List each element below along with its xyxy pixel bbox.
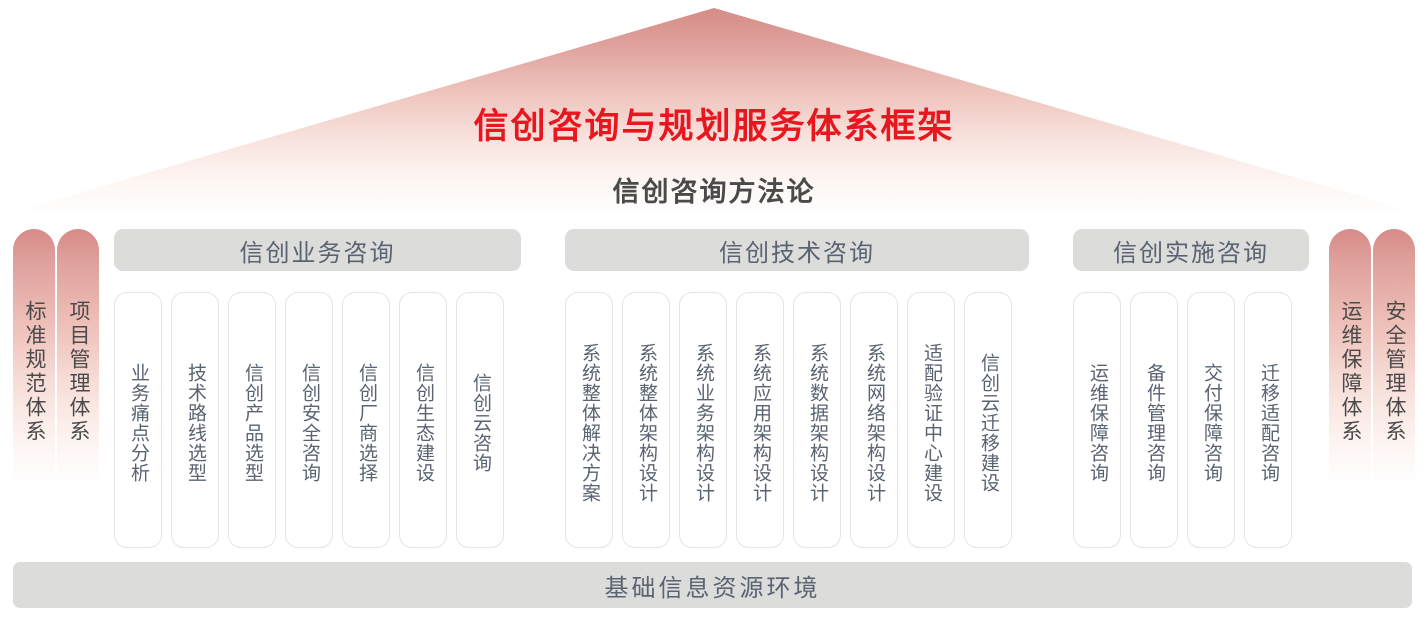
card-label: 信创生态建设 xyxy=(408,363,438,483)
section-business-consulting-header[interactable]: 信创业务咨询 xyxy=(114,229,521,271)
card-item[interactable]: 系统业务架构设计 xyxy=(679,292,727,548)
card-label: 信创云咨询 xyxy=(465,373,495,473)
card-label: 业务痛点分析 xyxy=(123,363,153,483)
card-label: 系统网络架构设计 xyxy=(859,343,889,503)
card-item[interactable]: 信创厂商选择 xyxy=(342,292,390,548)
section-technology-consulting-cards: 系统整体解决方案 系统整体架构设计 系统业务架构设计 系统应用架构设计 系统数据… xyxy=(565,292,1012,548)
pillar-security-management-label: 安全管理体系 xyxy=(1373,300,1415,530)
card-label: 系统数据架构设计 xyxy=(802,343,832,503)
card-item[interactable]: 信创生态建设 xyxy=(399,292,447,548)
card-item[interactable]: 运维保障咨询 xyxy=(1073,292,1121,548)
card-label: 系统应用架构设计 xyxy=(745,343,775,503)
section-implementation-consulting: 信创实施咨询 运维保障咨询 备件管理咨询 交付保障咨询 迁移适配咨询 xyxy=(1073,229,1309,271)
card-item[interactable]: 信创云迁移建设 xyxy=(964,292,1012,548)
section-technology-consulting: 信创技术咨询 系统整体解决方案 系统整体架构设计 系统业务架构设计 系统应用架构… xyxy=(565,229,1029,271)
card-label: 系统业务架构设计 xyxy=(688,343,718,503)
card-item[interactable]: 业务痛点分析 xyxy=(114,292,162,548)
card-label: 信创厂商选择 xyxy=(351,363,381,483)
card-item[interactable]: 备件管理咨询 xyxy=(1130,292,1178,548)
section-implementation-consulting-cards: 运维保障咨询 备件管理咨询 交付保障咨询 迁移适配咨询 xyxy=(1073,292,1292,548)
card-item[interactable]: 信创产品选型 xyxy=(228,292,276,548)
pillar-operations-support-label: 运维保障体系 xyxy=(1329,300,1371,530)
card-item[interactable]: 技术路线选型 xyxy=(171,292,219,548)
section-implementation-consulting-header[interactable]: 信创实施咨询 xyxy=(1073,229,1309,271)
foundation-bar[interactable]: 基础信息资源环境 xyxy=(13,562,1412,608)
pillar-project-management-label: 项目管理体系 xyxy=(57,300,99,530)
card-item[interactable]: 交付保障咨询 xyxy=(1187,292,1235,548)
card-item[interactable]: 信创安全咨询 xyxy=(285,292,333,548)
card-label: 系统整体解决方案 xyxy=(574,343,604,503)
section-business-consulting-cards: 业务痛点分析 技术路线选型 信创产品选型 信创安全咨询 信创厂商选择 信创生态建… xyxy=(114,292,504,548)
card-item[interactable]: 系统整体解决方案 xyxy=(565,292,613,548)
section-technology-consulting-header[interactable]: 信创技术咨询 xyxy=(565,229,1029,271)
card-label: 技术路线选型 xyxy=(180,363,210,483)
pillar-standards-label: 标准规范体系 xyxy=(13,300,55,530)
card-item[interactable]: 系统数据架构设计 xyxy=(793,292,841,548)
card-label: 适配验证中心建设 xyxy=(916,343,946,503)
card-item[interactable]: 适配验证中心建设 xyxy=(907,292,955,548)
page-title: 信创咨询与规划服务体系框架 xyxy=(0,98,1428,149)
card-label: 信创云迁移建设 xyxy=(973,353,1003,493)
card-label: 信创安全咨询 xyxy=(294,363,324,483)
card-item[interactable]: 系统网络架构设计 xyxy=(850,292,898,548)
card-label: 迁移适配咨询 xyxy=(1253,363,1283,483)
card-label: 信创产品选型 xyxy=(237,363,267,483)
card-item[interactable]: 信创云咨询 xyxy=(456,292,504,548)
card-label: 运维保障咨询 xyxy=(1082,363,1112,483)
card-item[interactable]: 迁移适配咨询 xyxy=(1244,292,1292,548)
card-item[interactable]: 系统应用架构设计 xyxy=(736,292,784,548)
card-item[interactable]: 系统整体架构设计 xyxy=(622,292,670,548)
page-subtitle: 信创咨询方法论 xyxy=(0,170,1428,209)
card-label: 备件管理咨询 xyxy=(1139,363,1169,483)
card-label: 系统整体架构设计 xyxy=(631,343,661,503)
card-label: 交付保障咨询 xyxy=(1196,363,1226,483)
section-business-consulting: 信创业务咨询 业务痛点分析 技术路线选型 信创产品选型 信创安全咨询 信创厂商选… xyxy=(114,229,521,271)
